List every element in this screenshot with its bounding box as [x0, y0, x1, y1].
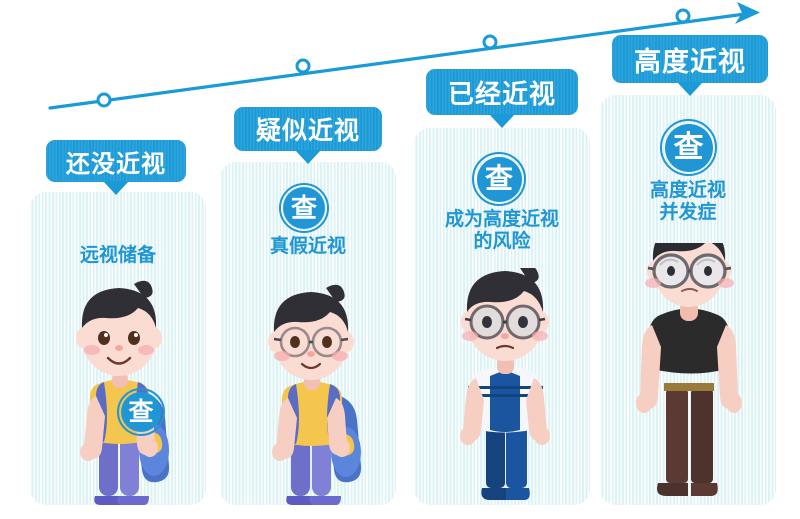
arrow-head-icon — [735, 2, 760, 24]
stage-card-3[interactable]: 查 成为高度近视 的风险 — [414, 128, 590, 505]
check-badge-4[interactable]: 查 — [660, 119, 717, 176]
badge-char-1: 查 — [121, 392, 161, 432]
figure-boy-round-glasses — [238, 282, 384, 505]
figure-boy-tracksuit — [432, 268, 578, 505]
card-caption-2: 真假近视 — [220, 236, 396, 258]
card-caption-3: 成为高度近视 的风险 — [414, 209, 590, 254]
stage-tab-label-3: 已经近视 — [448, 74, 556, 111]
figure-adult-thick-glasses — [616, 243, 762, 505]
stage-tab-2[interactable]: 疑似近视 — [234, 107, 382, 151]
arrow-node-2-icon — [297, 60, 309, 72]
stage-card-1[interactable]: 查 远视储备 — [30, 192, 206, 505]
badge-char-2: 查 — [283, 187, 325, 229]
stage-tab-1[interactable]: 还没近视 — [46, 140, 186, 182]
card-caption-1: 远视储备 — [30, 245, 206, 267]
stage-tab-3[interactable]: 已经近视 — [426, 69, 578, 115]
check-badge-3[interactable]: 查 — [472, 152, 526, 206]
badge-char-3: 查 — [477, 157, 522, 202]
figure-boy-no-glasses — [46, 272, 192, 505]
check-badge-2[interactable]: 查 — [279, 183, 329, 233]
stage-tab-label-1: 还没近视 — [66, 144, 166, 179]
arrow-node-3-icon — [484, 36, 496, 48]
stage-card-4[interactable]: 查 高度近视 并发症 — [600, 95, 776, 505]
badge-char-4: 查 — [665, 124, 713, 172]
stage-tab-4[interactable]: 高度近视 — [612, 35, 768, 83]
stage-tab-label-4: 高度近视 — [634, 40, 746, 79]
arrow-node-1-icon — [98, 94, 110, 106]
stage-tab-label-2: 疑似近视 — [256, 111, 360, 147]
arrow-node-4-icon — [677, 10, 689, 22]
stage-card-2[interactable]: 查 真假近视 — [220, 162, 396, 505]
check-badge-1[interactable]: 查 — [117, 388, 165, 436]
card-caption-4: 高度近视 并发症 — [600, 180, 776, 225]
infographic-stage: 查 远视储备 还没近视 — [0, 0, 800, 519]
